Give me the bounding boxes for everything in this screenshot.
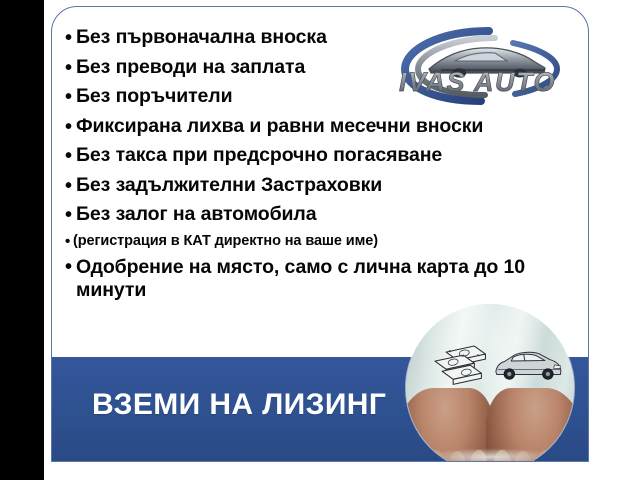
bullet-icon: •	[65, 256, 76, 277]
bullet-icon: •	[65, 27, 76, 48]
benefit-item: • Без такса при предсрочно погасяване	[65, 145, 589, 166]
cta-label: ВЗЕМИ НА ЛИЗИНГ	[92, 388, 386, 422]
ad-banner-stage: IVAS AUTO • Без първоначална вноска • Бе…	[0, 0, 640, 480]
benefit-text: Одобрение на място, само с лична карта д…	[76, 256, 589, 304]
benefit-text: Без залог на автомобила	[76, 204, 589, 224]
benefit-item: • Фиксирана лихва и равни месечни вноски	[65, 116, 589, 137]
benefit-item-note: • (регистрация в КАТ директно на ваше им…	[65, 234, 589, 249]
palm-highlight	[422, 448, 557, 462]
open-hands	[406, 388, 574, 462]
benefit-text: Без поръчители	[76, 86, 589, 106]
bullet-icon: •	[65, 145, 76, 166]
benefits-list: • Без първоначална вноска • Без преводи …	[65, 27, 589, 312]
letterbox-bar-left	[0, 0, 44, 480]
benefit-item: • Без преводи на заплата	[65, 57, 589, 78]
car-sketch-icon	[492, 344, 564, 388]
benefit-text: Без задължителни Застраховки	[76, 175, 589, 195]
bullet-icon: •	[65, 204, 76, 225]
money-sketch-icon	[431, 341, 491, 391]
leasing-offer-card: IVAS AUTO • Без първоначална вноска • Бе…	[51, 6, 589, 462]
benefit-item: • Одобрение на място, само с лична карта…	[65, 256, 589, 304]
benefit-text: Без такса при предсрочно погасяване	[76, 145, 589, 165]
benefit-text: Фиксирана лихва и равни месечни вноски	[76, 116, 589, 136]
bullet-icon: •	[65, 86, 76, 107]
benefit-item: • Без поръчители	[65, 86, 589, 107]
benefit-text: Без преводи на заплата	[76, 57, 589, 77]
bullet-icon: •	[65, 234, 73, 249]
hands-money-car-photo	[406, 304, 574, 462]
bullet-icon: •	[65, 175, 76, 196]
benefit-text: Без първоначална вноска	[76, 27, 589, 47]
benefit-item: • Без залог на автомобила	[65, 204, 589, 225]
bullet-icon: •	[65, 116, 76, 137]
bullet-icon: •	[65, 57, 76, 78]
benefit-text: (регистрация в КАТ директно на ваше име)	[73, 234, 589, 249]
benefit-item: • Без първоначална вноска	[65, 27, 589, 48]
benefit-item: • Без задължителни Застраховки	[65, 175, 589, 196]
